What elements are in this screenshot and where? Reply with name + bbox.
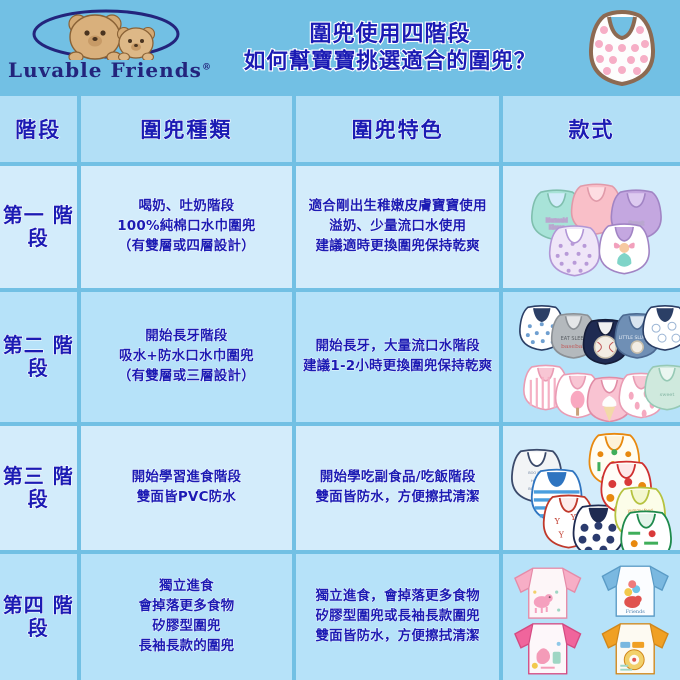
stages-table: 階段 圍兜種類 圍兜特色 款式 第一 階段 喝奶、吐奶階段 100%純棉口水巾圍…	[0, 96, 680, 680]
type-text: 喝奶、吐奶階段 100%純棉口水巾圍兜 （有雙層或四層設計）	[114, 197, 258, 257]
type-cell: 開始長牙階段 吸水+防水口水巾圍兜 （有雙層或三層設計）	[81, 292, 293, 422]
stage-label: 第四 階段	[0, 594, 77, 640]
type-text: 開始長牙階段 吸水+防水口水巾圍兜 （有雙層或三層設計）	[115, 327, 258, 387]
header-label-stage: 階段	[15, 114, 61, 144]
type-cell: 獨立進食 會掉落更多食物 矽膠型圍兜 長袖長款的圍兜	[81, 554, 293, 680]
brand-name: Luvable Friends®	[8, 58, 204, 82]
type-text: 獨立進食 會掉落更多食物 矽膠型圍兜 長袖長款的圍兜	[135, 577, 237, 657]
banner-title: 圍兜使用四階段 如何幫寶寶挑選適合的圍兜？	[206, 22, 574, 75]
stage-label: 第三 階段	[0, 465, 77, 511]
brand-name-text: Luvable Friends	[8, 58, 202, 82]
stage-cell: 第三 階段	[0, 426, 77, 550]
table-row: 第三 階段 開始學習進食階段 雙面皆PVC防水 開始學吃副食品/吃飯階段 雙面皆…	[0, 426, 680, 550]
type-cell: 開始學習進食階段 雙面皆PVC防水	[81, 426, 293, 550]
brand-logo: Luvable Friends®	[8, 4, 204, 92]
table-row: 第一 階段 喝奶、吐奶階段 100%純棉口水巾圍兜 （有雙層或四層設計） 適合剛…	[0, 166, 680, 288]
svg-text:Y: Y	[554, 517, 561, 526]
feature-cell: 獨立進食，會掉落更多食物 矽膠型圍兜或長袖長款圍兜 雙面皆防水，方便擦拭清潔	[296, 554, 499, 680]
pvc-waterproof-bibs-set-image: BOO BOO HAPPY BOO BOO	[503, 426, 680, 550]
feature-cell: 適合剛出生稚嫩皮膚寶寶使用 溢奶、少量流口水使用 建議適時更換圍兜保持乾爽	[296, 166, 499, 288]
header-label-style: 款式	[569, 114, 615, 144]
svg-text:Friends: Friends	[626, 609, 646, 615]
table-row: 第二 階段 開始長牙階段 吸水+防水口水巾圍兜 （有雙層或三層設計） 開始長牙，…	[0, 292, 680, 422]
svg-text:Mermaid: Mermaid	[546, 218, 568, 224]
header-cell-feature: 圍兜特色	[296, 96, 499, 162]
svg-text:Y: Y	[558, 531, 565, 540]
feature-text: 開始長牙，大量流口水階段 建議1-2小時更換圍兜保持乾爽	[300, 337, 495, 377]
svg-text:sweet: sweet	[660, 392, 675, 398]
absorbent-waterproof-bibs-set-image: EAT SLEEP baseball	[503, 292, 680, 422]
style-cell: Mermaid Kisses Sweet	[503, 166, 680, 288]
teddy-bear-pair-icon	[30, 8, 182, 60]
header-banner: Luvable Friends® 圍兜使用四階段 如何幫寶寶挑選適合的圍兜？	[0, 0, 680, 96]
pink-polka-dot-bib-icon	[578, 4, 666, 92]
table-row: 第四 階段 獨立進食 會掉落更多食物 矽膠型圍兜 長袖長款的圍兜 獨立進食，會掉…	[0, 554, 680, 680]
header-label-type: 圍兜種類	[140, 114, 232, 144]
stage-label: 第二 階段	[0, 334, 77, 380]
type-text: 開始學習進食階段 雙面皆PVC防水	[129, 468, 245, 508]
feature-text: 獨立進食，會掉落更多食物 矽膠型圍兜或長袖長款圍兜 雙面皆防水，方便擦拭清潔	[312, 587, 482, 647]
banner-title-line1: 圍兜使用四階段	[206, 22, 574, 49]
feature-text: 開始學吃副食品/吃飯階段 雙面皆防水，方便擦拭清潔	[312, 468, 482, 508]
infographic-page: Luvable Friends® 圍兜使用四階段 如何幫寶寶挑選適合的圍兜？	[0, 0, 680, 680]
style-cell: EAT SLEEP baseball	[503, 292, 680, 422]
feature-cell: 開始長牙，大量流口水階段 建議1-2小時更換圍兜保持乾爽	[296, 292, 499, 422]
header-cell-type: 圍兜種類	[81, 96, 293, 162]
stage-label: 第一 階段	[0, 204, 77, 250]
stage-cell: 第二 階段	[0, 292, 77, 422]
style-cell: Friends	[503, 554, 680, 680]
cotton-bibs-pastel-set-image: Mermaid Kisses Sweet	[503, 166, 680, 288]
stage-cell: 第四 階段	[0, 554, 77, 680]
feature-text: 適合剛出生稚嫩皮膚寶寶使用 溢奶、少量流口水使用 建議適時更換圍兜保持乾爽	[306, 197, 490, 257]
banner-title-line2: 如何幫寶寶挑選適合的圍兜？	[206, 49, 574, 75]
stage-cell: 第一 階段	[0, 166, 77, 288]
style-cell: BOO BOO HAPPY BOO BOO	[503, 426, 680, 550]
feature-cell: 開始學吃副食品/吃飯階段 雙面皆防水，方便擦拭清潔	[296, 426, 499, 550]
header-cell-stage: 階段	[0, 96, 77, 162]
svg-text:EAT SLEEP: EAT SLEEP	[561, 336, 587, 342]
type-cell: 喝奶、吐奶階段 100%純棉口水巾圍兜 （有雙層或四層設計）	[81, 166, 293, 288]
header-label-feature: 圍兜特色	[352, 114, 444, 144]
long-sleeve-smock-bibs-set-image: Friends	[503, 554, 680, 680]
svg-text:baseball: baseball	[561, 343, 586, 350]
header-cell-style: 款式	[503, 96, 680, 162]
table-header-row: 階段 圍兜種類 圍兜特色 款式	[0, 96, 680, 162]
